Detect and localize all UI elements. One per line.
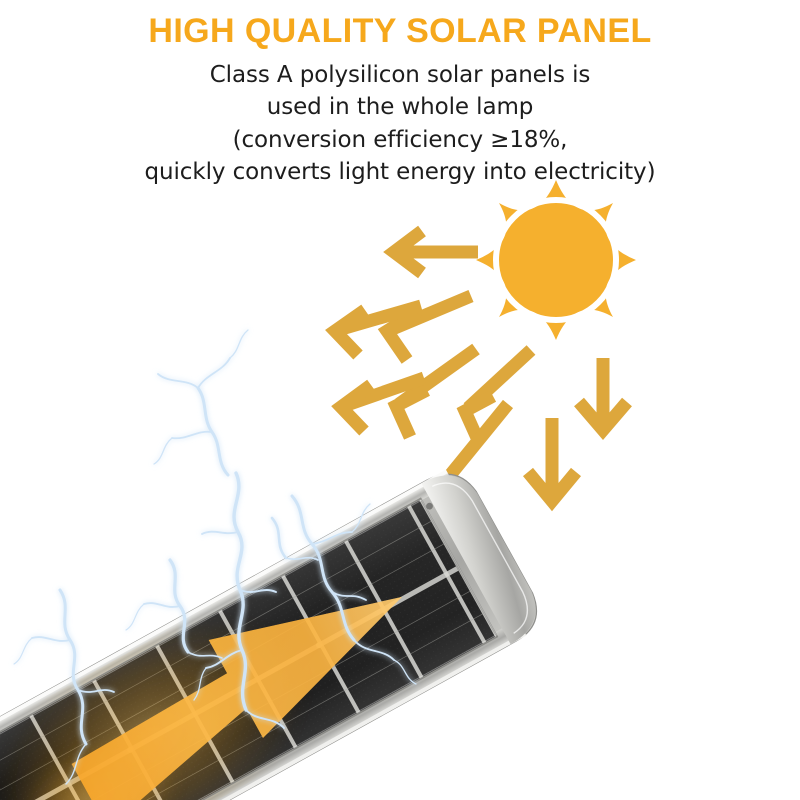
ray-arrow-3 — [335, 306, 421, 355]
ray-arrow-1 — [394, 231, 478, 273]
panel-cell-area — [0, 485, 503, 800]
page-title: HIGH QUALITY SOLAR PANEL — [0, 0, 800, 50]
description-line-2: used in the whole lamp — [0, 91, 800, 123]
description-line-4: quickly converts light energy into elect… — [0, 156, 800, 188]
headline-block: HIGH QUALITY SOLAR PANEL Class A polysil… — [0, 0, 800, 188]
poster-canvas: HIGH QUALITY SOLAR PANEL Class A polysil… — [0, 0, 800, 800]
sun-disc — [500, 204, 613, 317]
description-line-3: (conversion efficiency ≥18%, — [0, 124, 800, 156]
description-line-1: Class A polysilicon solar panels is — [0, 59, 800, 91]
bolt-2 — [154, 330, 248, 475]
description-text: Class A polysilicon solar panels is used… — [0, 50, 800, 189]
ray-arrow-9 — [528, 418, 576, 501]
sun-icon — [476, 180, 636, 340]
ray-arrow-8 — [579, 358, 627, 430]
